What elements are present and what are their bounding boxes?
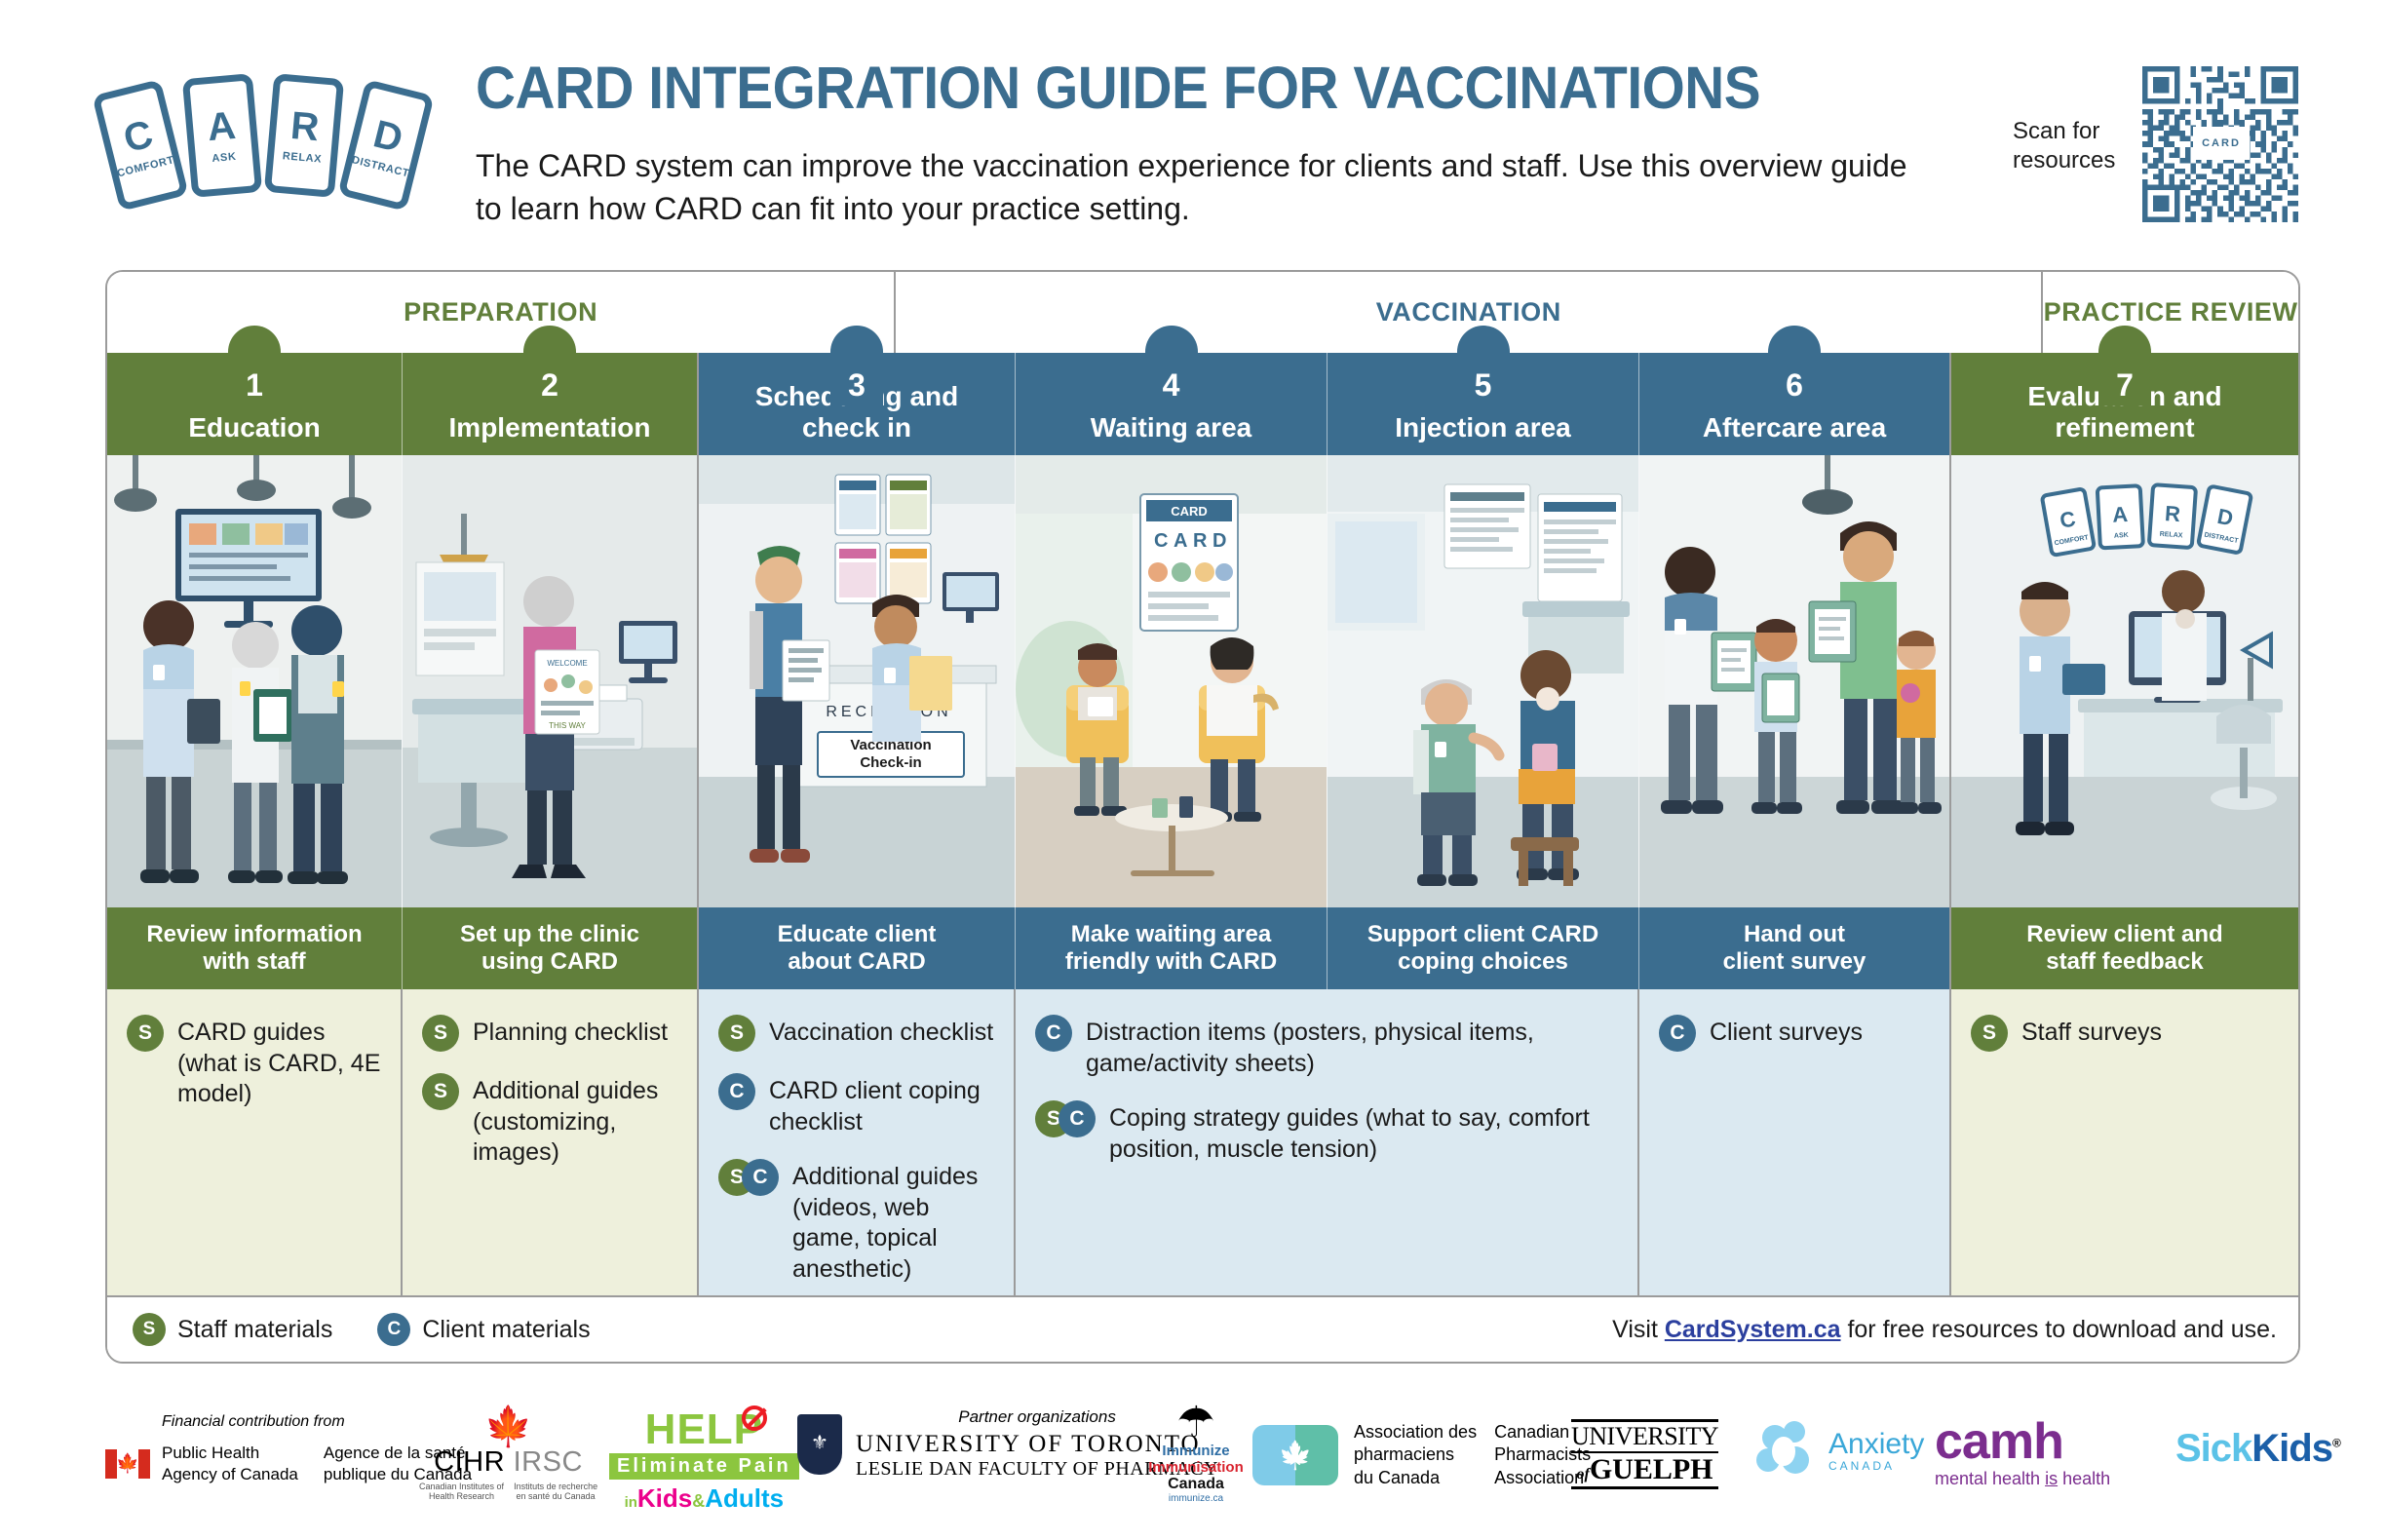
action-1: Review information with staff	[107, 907, 403, 989]
logo-card-letter: D	[369, 114, 406, 159]
step-number: 5	[1475, 367, 1492, 404]
help-kids: Kids	[637, 1483, 692, 1513]
cihr-sub-fr: Instituts de recherche en santé du Canad…	[514, 1482, 597, 1502]
badge-group: S C	[1035, 1100, 1096, 1137]
list-item-text: Vaccination checklist	[769, 1015, 993, 1049]
svg-text:R: R	[1193, 530, 1208, 552]
cihr-fr: IRSC	[514, 1446, 583, 1478]
illustration-education-svg	[107, 455, 403, 907]
legend-client: C Client materials	[377, 1313, 590, 1346]
anxiety-canada-logo: Anxiety CANADA	[1754, 1421, 1924, 1482]
step-header-2: 2 Implementation	[403, 353, 699, 455]
camh-tag-a: mental health	[1935, 1469, 2045, 1488]
qr-center-logo: CARD	[2193, 127, 2250, 160]
badge-group: S	[422, 1073, 459, 1110]
camh-tag-is: is	[2045, 1469, 2058, 1488]
infographic-page: C COMFORT A ASK R RELAX D DISTRACT CARD …	[0, 0, 2386, 1540]
badge-group: S	[127, 1015, 164, 1052]
logo-card-relax: R RELAX	[264, 73, 344, 198]
page-title: CARD INTEGRATION GUIDE FOR VACCINATIONS	[476, 54, 1760, 122]
immunize-canada-logo: ☂ Immunize Immunisation Canada immunize.…	[1133, 1404, 1259, 1504]
svg-text:R: R	[2164, 501, 2181, 526]
step-title: Aftercare area	[1697, 412, 1892, 443]
visit-note: Visit CardSystem.ca for free resources t…	[1612, 1316, 2277, 1344]
illustration-aftercare-area	[1639, 455, 1951, 907]
logo-card-comfort: C COMFORT	[92, 79, 188, 212]
logo-card-ask: A ASK	[182, 73, 262, 198]
visit-prefix: Visit	[1612, 1316, 1665, 1343]
qr-code[interactable]: CARD	[2142, 66, 2298, 222]
illustration-scheduling-svg: RECEPTION Vaccination Check-in	[699, 455, 1016, 907]
svg-text:D: D	[1212, 530, 1226, 552]
illustration-waiting-area-svg: CARD CARD	[1016, 455, 1328, 907]
step-header-3: 3 Scheduling and check in	[699, 353, 1016, 455]
list-item[interactable]: S C Additional guides (videos, web game,…	[718, 1159, 996, 1285]
logo-card-word: DISTRACT	[351, 154, 411, 179]
staff-badge-icon: S	[1971, 1015, 2008, 1052]
visit-suffix: for free resources to download and use.	[1841, 1316, 2278, 1343]
illustration-injection-area-svg	[1328, 455, 1639, 907]
badge-group: C	[718, 1073, 755, 1110]
no-pain-icon	[742, 1405, 767, 1431]
step-header-4: 4 Waiting area	[1016, 353, 1328, 455]
legend-staff-label: Staff materials	[177, 1316, 332, 1344]
list-item-text: Coping strategy guides (what to say, com…	[1109, 1100, 1620, 1165]
list-item[interactable]: S Staff surveys	[1971, 1015, 2281, 1052]
logo-card-word: COMFORT	[116, 154, 175, 179]
card-logo: C COMFORT A ASK R RELAX D DISTRACT	[105, 68, 437, 214]
legend-bar: S Staff materials C Client materials Vis…	[107, 1295, 2300, 1362]
svg-text:Check-in: Check-in	[860, 754, 921, 771]
guelph-name: GUELPH	[1590, 1453, 1713, 1485]
phase-label: PREPARATION	[404, 297, 597, 327]
svg-text:WELCOME: WELCOME	[547, 659, 587, 668]
camh-logo: camh mental health is health	[1935, 1419, 2110, 1489]
staff-badge-icon: S	[133, 1313, 166, 1346]
list-item[interactable]: C Distraction items (posters, physical i…	[1035, 1015, 1620, 1079]
step-number: 4	[1163, 367, 1180, 404]
logo-card-letter: R	[289, 106, 321, 147]
action-bar-row: Review information with staff Set up the…	[107, 907, 2298, 989]
illustration-evaluation-svg: C COMFORT A ASK R RELAX	[1951, 455, 2298, 907]
cihr-sub-en: Canadian Institutes of Health Research	[419, 1482, 504, 1502]
step-number-badge: 5	[1457, 326, 1510, 405]
legend-staff: S Staff materials	[133, 1313, 332, 1346]
step-number: 3	[848, 367, 866, 404]
list-item-text: Additional guides (videos, web game, top…	[792, 1159, 996, 1285]
canada-flag-icon: 🍁	[105, 1449, 150, 1479]
guelph-line1: UNIVERSITY	[1571, 1419, 1718, 1453]
anxiety-blob-icon	[1754, 1421, 1817, 1482]
qr-center-text: CARD	[2202, 137, 2241, 149]
help-in: in	[625, 1494, 637, 1511]
badge-group: S	[1971, 1015, 2008, 1052]
logo-card-word: RELAX	[282, 150, 322, 165]
list-item[interactable]: S CARD guides (what is CARD, 4E model)	[127, 1015, 383, 1110]
action-5: Support client CARD coping choices	[1328, 907, 1639, 989]
staff-badge-icon: S	[422, 1015, 459, 1052]
phase-row: PREPARATION VACCINATION PRACTICE REVIEW	[107, 272, 2298, 353]
step-col-1[interactable]: 1 Education	[107, 353, 403, 455]
sickkids-wordmark: SickKids®	[2175, 1429, 2340, 1468]
cihr-leaf-icon: 🍁	[419, 1407, 597, 1446]
list-item[interactable]: S Additional guides (customizing, images…	[422, 1073, 679, 1169]
client-badge-icon: C	[1058, 1100, 1096, 1137]
phase-label: PRACTICE REVIEW	[2044, 297, 2298, 327]
badge-group: S	[422, 1015, 459, 1052]
illustration-implementation: WELCOME THIS WAY	[403, 455, 699, 907]
camh-tagline: mental health is health	[1935, 1469, 2110, 1489]
list-item-text: Distraction items (posters, physical ite…	[1086, 1015, 1620, 1079]
step-number: 2	[541, 367, 558, 404]
phase-practice-review: PRACTICE REVIEW	[2043, 272, 2298, 353]
logo-card-distract: D DISTRACT	[337, 79, 434, 212]
cpha-fr-label: Association des pharmaciens du Canada	[1354, 1421, 1477, 1489]
phase-label: VACCINATION	[1376, 297, 1561, 327]
camh-wordmark: camh	[1935, 1419, 2110, 1465]
illustration-injection-area	[1328, 455, 1639, 907]
svg-text:ASK: ASK	[2114, 532, 2129, 540]
guelph-logo: UNIVERSITY ofGUELPH	[1571, 1419, 1718, 1489]
help-tagline: Eliminate Pain	[609, 1453, 799, 1480]
badge-group: C	[1659, 1015, 1696, 1052]
logo-card-letter: C	[120, 114, 157, 159]
logo-card-letter: A	[206, 106, 237, 147]
sickkids-logo: SickKids®	[2175, 1429, 2340, 1468]
step-number-badge: 4	[1145, 326, 1198, 405]
client-badge-icon: C	[1659, 1015, 1696, 1052]
action-6: Hand out client survey	[1639, 907, 1951, 989]
legend-client-label: Client materials	[422, 1316, 590, 1344]
step-col-3[interactable]: 3 Scheduling and check in	[699, 353, 1016, 455]
list-item[interactable]: S Planning checklist	[422, 1015, 679, 1052]
staff-badge-icon: S	[718, 1015, 755, 1052]
step-header-row: 1 Education 2 Implementation 3 Schedulin…	[107, 353, 2298, 455]
action-4: Make waiting area friendly with CARD	[1016, 907, 1328, 989]
anxiety-country: CANADA	[1828, 1459, 1924, 1473]
guelph-line2: ofGUELPH	[1571, 1453, 1718, 1489]
staff-badge-icon: S	[422, 1073, 459, 1110]
step-title: Waiting area	[1085, 412, 1257, 443]
illustration-waiting-area: CARD CARD	[1016, 455, 1328, 907]
logo-card-word: ASK	[212, 151, 237, 165]
list-item-text: CARD guides (what is CARD, 4E model)	[177, 1015, 383, 1110]
action-7: Review client and staff feedback	[1951, 907, 2298, 989]
illustration-aftercare-svg	[1639, 455, 1951, 907]
cihr-logo: 🍁 CIHR IRSC Canadian Institutes of Healt…	[419, 1407, 597, 1502]
svg-text:CARD: CARD	[1171, 504, 1208, 519]
guelph-of: of	[1576, 1466, 1589, 1482]
list-item[interactable]: S C Coping strategy guides (what to say,…	[1035, 1100, 1620, 1165]
step-title: Education	[182, 412, 326, 443]
step-col-4[interactable]: 4 Waiting area	[1016, 353, 1328, 455]
illustration-evaluation: C COMFORT A ASK R RELAX	[1951, 455, 2298, 907]
uoft-crest-icon	[797, 1414, 842, 1475]
step-col-2[interactable]: 2 Implementation	[403, 353, 699, 455]
step-col-6[interactable]: 6 Aftercare area	[1639, 353, 1951, 455]
cardsystem-link[interactable]: CardSystem.ca	[1665, 1316, 1841, 1343]
scan-label: Scan for resources	[2013, 117, 2154, 175]
list-item[interactable]: S Vaccination checklist	[718, 1015, 996, 1052]
help-logo: HELP Eliminate Pain inKids&Adults	[609, 1409, 799, 1514]
immunize-en: Immunize	[1133, 1443, 1259, 1459]
svg-text:A: A	[2112, 502, 2129, 527]
guide-board: PREPARATION VACCINATION PRACTICE REVIEW …	[105, 270, 2300, 1364]
list-item[interactable]: C CARD client coping checklist	[718, 1073, 996, 1137]
step-number-badge: 7	[2098, 326, 2151, 405]
illustration-scheduling: RECEPTION Vaccination Check-in	[699, 455, 1016, 907]
step-number: 1	[246, 367, 263, 404]
immunize-fr: Immunisation	[1133, 1459, 1259, 1476]
client-badge-icon: C	[1035, 1015, 1072, 1052]
help-audience: inKids&Adults	[609, 1483, 799, 1514]
sickkids-kids: Kids	[2251, 1427, 2332, 1470]
immunize-country: Canada	[1133, 1476, 1259, 1493]
step-header-6: 6 Aftercare area	[1639, 353, 1951, 455]
help-amp: &	[692, 1491, 705, 1511]
step-col-5[interactable]: 5 Injection area	[1328, 353, 1639, 455]
anxiety-name: Anxiety	[1828, 1430, 1924, 1459]
badge-group: S	[718, 1015, 755, 1052]
svg-text:C: C	[1154, 530, 1168, 552]
step-number-badge: 3	[830, 326, 883, 405]
step-title: Implementation	[443, 412, 657, 443]
list-item-text: CARD client coping checklist	[769, 1073, 996, 1137]
list-item-text: Client surveys	[1710, 1015, 1863, 1049]
illustration-education	[107, 455, 403, 907]
phac-en-label: Public Health Agency of Canada	[162, 1443, 298, 1485]
step-number: 7	[2116, 367, 2134, 404]
immunize-url: immunize.ca	[1133, 1493, 1259, 1504]
cihr-name: CIHR IRSC	[419, 1446, 597, 1479]
help-adults: Adults	[705, 1483, 784, 1513]
badge-group: S C	[718, 1159, 779, 1196]
header: C COMFORT A ASK R RELAX D DISTRACT CARD …	[0, 0, 2386, 263]
step-header-1: 1 Education	[107, 353, 403, 455]
svg-text:THIS WAY: THIS WAY	[549, 721, 586, 730]
cpha-logo: Association des pharmaciens du Canada Ca…	[1252, 1421, 1608, 1489]
cpha-maple-icon	[1252, 1425, 1338, 1485]
client-badge-icon: C	[718, 1073, 755, 1110]
sickkids-sick: Sick	[2175, 1427, 2251, 1470]
step-header-7: 7 Evaluation and refinement	[1951, 353, 2298, 455]
list-item[interactable]: C Client surveys	[1659, 1015, 1932, 1052]
list-item-text: Staff surveys	[2021, 1015, 2162, 1049]
page-subtitle: The CARD system can improve the vaccinat…	[476, 144, 1938, 230]
illustration-implementation-svg: WELCOME THIS WAY	[403, 455, 699, 907]
client-badge-icon: C	[742, 1159, 779, 1196]
list-item-text: Planning checklist	[473, 1015, 668, 1049]
step-title: Injection area	[1389, 412, 1577, 443]
step-number-badge: 2	[523, 326, 576, 405]
camh-tag-b: health	[2058, 1469, 2110, 1488]
staff-badge-icon: S	[127, 1015, 164, 1052]
footer-logos: Financial contribution from 🍁 Public Hea…	[0, 1374, 2386, 1540]
step-number-badge: 1	[228, 326, 281, 405]
step-header-5: 5 Injection area	[1328, 353, 1639, 455]
phase-preparation: PREPARATION	[107, 272, 896, 353]
action-2: Set up the clinic using CARD	[403, 907, 699, 989]
illustration-row: WELCOME THIS WAY	[107, 455, 2298, 907]
help-wordmark: HELP	[645, 1409, 763, 1450]
umbrella-icon: ☂	[1133, 1404, 1259, 1443]
badge-group: C	[1035, 1015, 1072, 1052]
cihr-en: CIHR	[434, 1446, 505, 1478]
action-3: Educate client about CARD	[699, 907, 1016, 989]
client-badge-icon: C	[377, 1313, 410, 1346]
step-col-7[interactable]: 7 Evaluation and refinement	[1951, 353, 2298, 455]
list-item-text: Additional guides (customizing, images)	[473, 1073, 679, 1169]
step-number-badge: 6	[1768, 326, 1821, 405]
svg-text:A: A	[1174, 530, 1187, 552]
step-number: 6	[1786, 367, 1803, 404]
